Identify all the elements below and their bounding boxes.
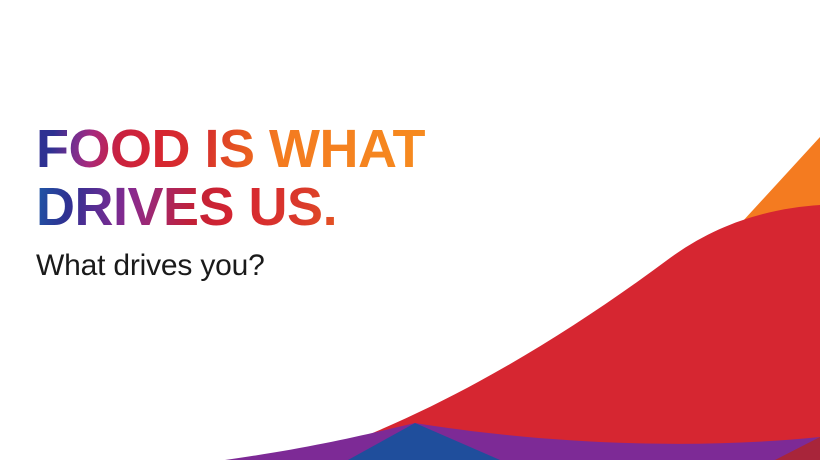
promotional-banner: FOOD IS WHAT DRIVES US. What drives you? bbox=[0, 0, 820, 460]
text-block: FOOD IS WHAT DRIVES US. What drives you? bbox=[36, 120, 425, 286]
headline-line-2: DRIVES US. bbox=[36, 178, 425, 236]
headline-line-1: FOOD IS WHAT bbox=[36, 120, 425, 178]
subtitle: What drives you? bbox=[36, 246, 425, 286]
